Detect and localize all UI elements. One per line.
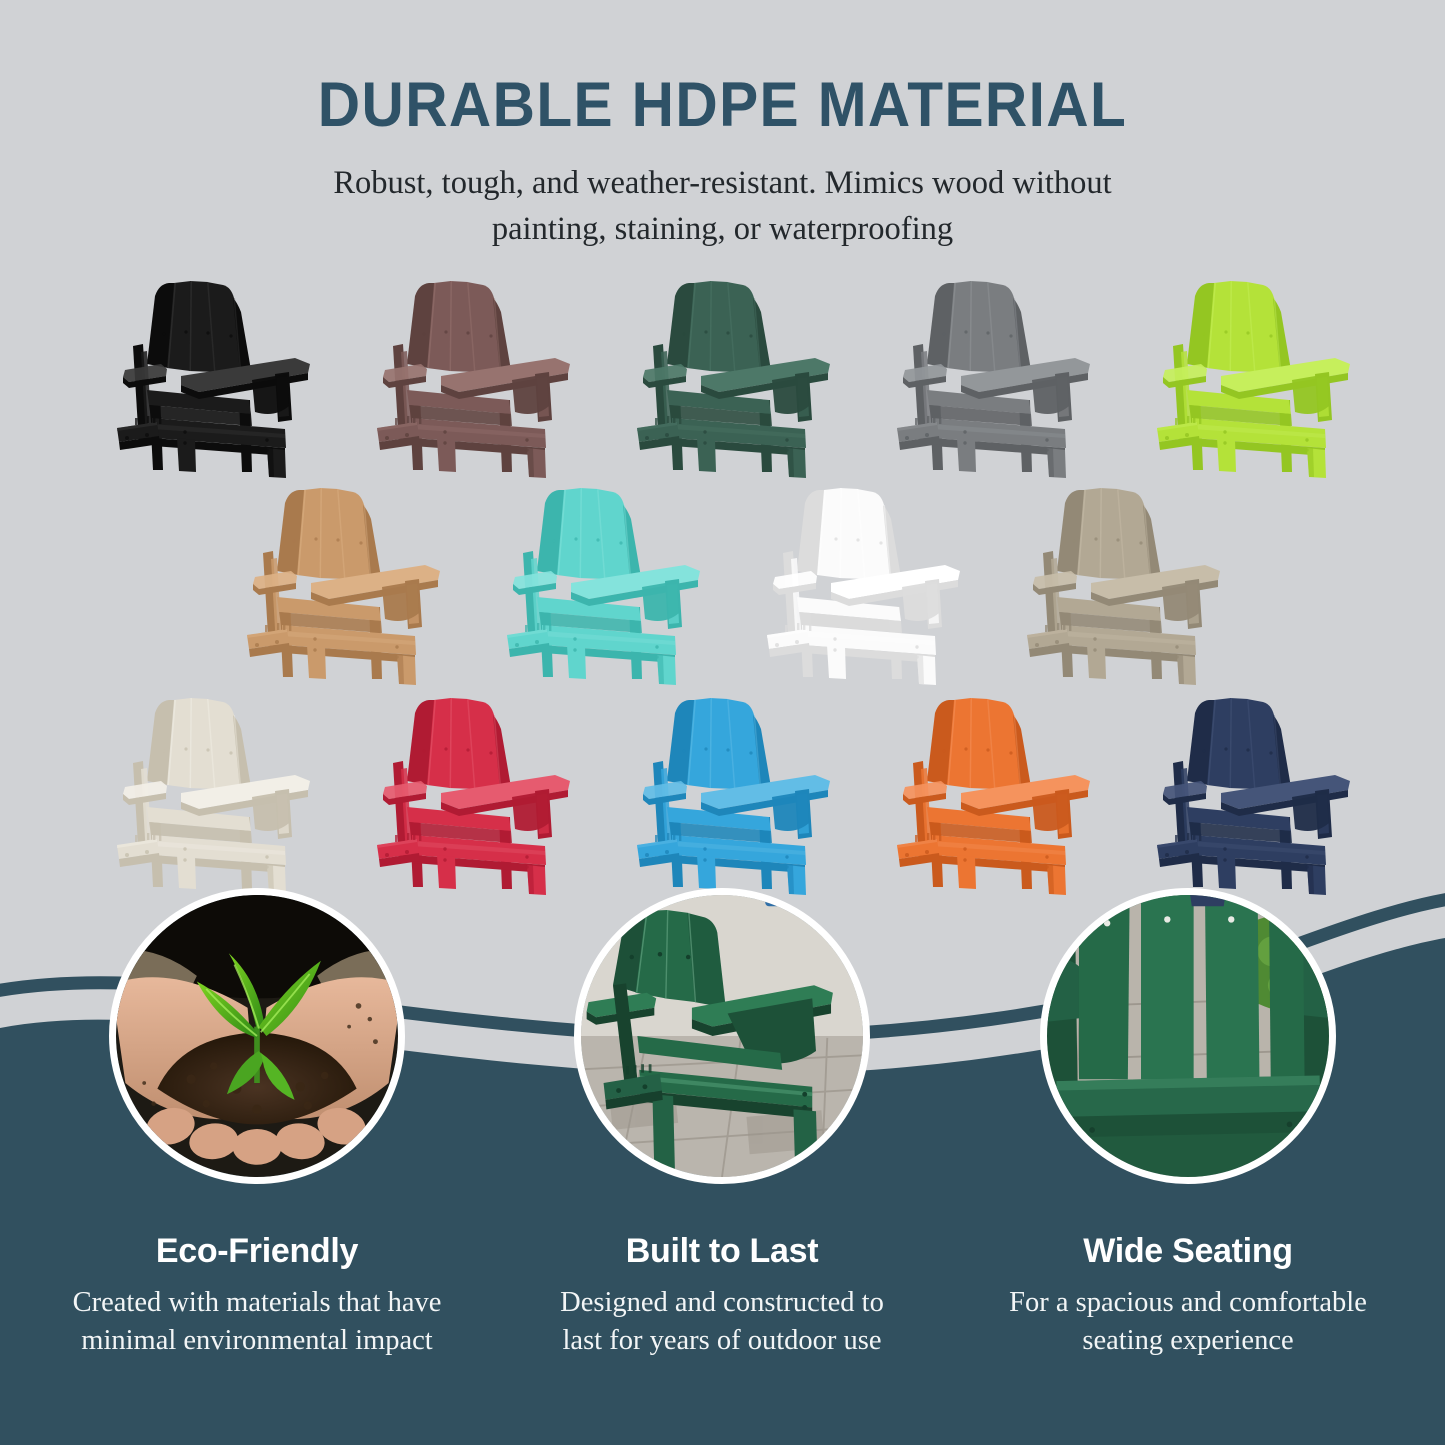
feature-description-line-1: For a spacious and comfortable (959, 1284, 1417, 1322)
wide-seat-closeup-photo (1040, 888, 1336, 1184)
seedling-in-hands-icon (116, 895, 398, 1177)
feature-description-line-1: Designed and constructed to (493, 1284, 951, 1322)
feature-description-line-1: Created with materials that have (28, 1284, 486, 1322)
seedling-in-hands-photo (109, 888, 405, 1184)
feature-title: Built to Last (487, 1232, 957, 1271)
wide-seat-closeup-icon (1047, 895, 1329, 1177)
infographic-poster: DURABLE HDPE MATERIAL Robust, tough, and… (0, 0, 1445, 1445)
feature-title: Eco-Friendly (22, 1232, 492, 1271)
green-adirondack-chair-icon (581, 895, 863, 1177)
feature-description: For a spacious and comfortableseating ex… (953, 1284, 1423, 1360)
feature-wide-seating: Wide SeatingFor a spacious and comfortab… (953, 888, 1423, 1360)
feature-description: Designed and constructed tolast for year… (487, 1284, 957, 1360)
feature-description-line-2: seating experience (959, 1322, 1417, 1360)
feature-eco-friendly: Eco-FriendlyCreated with materials that … (22, 888, 492, 1360)
feature-title: Wide Seating (953, 1232, 1423, 1271)
feature-list: Eco-FriendlyCreated with materials that … (0, 0, 1445, 1445)
feature-description-line-2: last for years of outdoor use (493, 1322, 951, 1360)
green-adirondack-chair-photo (574, 888, 870, 1184)
feature-description-line-2: minimal environmental impact (28, 1322, 486, 1360)
feature-built-to-last: Built to LastDesigned and constructed to… (487, 888, 957, 1360)
feature-description: Created with materials that haveminimal … (22, 1284, 492, 1360)
